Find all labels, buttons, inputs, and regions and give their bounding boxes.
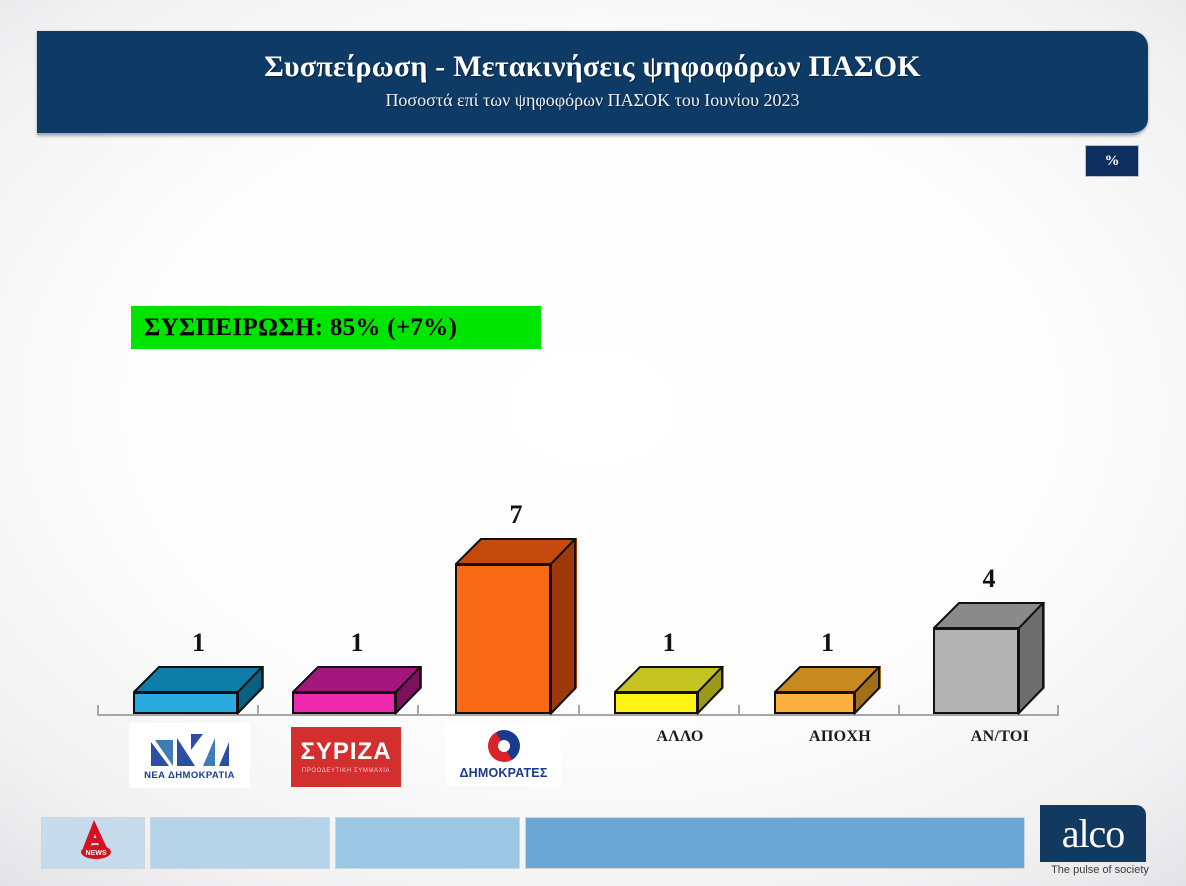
bar-6 [933, 602, 1045, 714]
bar-value-label: 1 [614, 628, 724, 658]
bar-1 [133, 666, 264, 714]
bar-front-face [774, 692, 855, 714]
bar-side-outline [1018, 602, 1045, 715]
logo-syriza: ΣΥΡΙΖΑ ΠΡΟΟΔΕΥΤΙΚΗ ΣΥΜΜΑΧΙΑ [291, 727, 401, 787]
bar-value-label: 1 [774, 628, 881, 658]
footer-block [150, 817, 330, 869]
dimokrates-emblem-icon [488, 730, 520, 762]
alco-wordmark: alco [1062, 814, 1125, 854]
syriza-name: ΣΥΡΙΖΑ [300, 740, 391, 764]
footer-block [525, 817, 1025, 869]
bar-5 [774, 666, 881, 714]
dimokrates-caption: ΔΗΜΟΚΡΑΤΕΣ [459, 766, 547, 780]
bar-side-outline [854, 666, 881, 715]
footer-block [335, 817, 520, 869]
bar-chart: 117114 ΑΛΛΟ ΑΠΟΧΗ ΑΝ/ΤΟΙ ΝΕΑ ΔΗΜΟΚΡΑΤΙΑ … [0, 0, 1186, 886]
bar-side-outline [237, 666, 264, 715]
axis-tick [578, 705, 580, 715]
nd-emblem-icon [147, 730, 233, 768]
alpha-news-logo: NEWS [73, 818, 119, 860]
bar-front-face [292, 692, 396, 714]
x-label-antoi: ΑΝ/ΤΟΙ [915, 728, 1085, 746]
bar-value-label: 1 [292, 628, 422, 658]
alco-logo: alco [1040, 805, 1146, 862]
nd-caption: ΝΕΑ ΔΗΜΟΚΡΑΤΙΑ [144, 770, 235, 781]
bar-front-face [455, 564, 551, 715]
x-label-apoxi: ΑΠΟΧΗ [755, 728, 925, 746]
slide-canvas: Συσπείρωση - Μετακινήσεις ψηφοφόρων ΠΑΣΟ… [0, 0, 1186, 886]
bar-value-label: 1 [133, 628, 264, 658]
axis-tick [97, 705, 99, 715]
logo-nea-dimokratia: ΝΕΑ ΔΗΜΟΚΡΑΤΙΑ [129, 723, 250, 788]
footer-bar [0, 812, 1186, 886]
axis-tick [898, 705, 900, 715]
axis-tick [738, 705, 740, 715]
x-label-allo: ΑΛΛΟ [595, 728, 765, 746]
bar-4 [614, 666, 724, 714]
alco-tagline: The pulse of society [1040, 864, 1160, 876]
axis-tick [1057, 705, 1059, 715]
bar-side-outline [550, 538, 577, 716]
bar-side-outline [697, 666, 724, 715]
bar-3 [455, 538, 577, 715]
bar-2 [292, 666, 422, 714]
bar-side-outline [395, 666, 422, 715]
logo-dimokrates: ΔΗΜΟΚΡΑΤΕΣ [446, 723, 561, 786]
bar-value-label: 7 [455, 500, 577, 530]
syriza-subtitle: ΠΡΟΟΔΕΥΤΙΚΗ ΣΥΜΜΑΧΙΑ [302, 768, 390, 774]
svg-text:NEWS: NEWS [86, 850, 107, 857]
bar-front-face [933, 628, 1019, 714]
bar-front-face [614, 692, 698, 714]
bar-front-face [133, 692, 238, 714]
bar-value-label: 4 [933, 564, 1045, 594]
